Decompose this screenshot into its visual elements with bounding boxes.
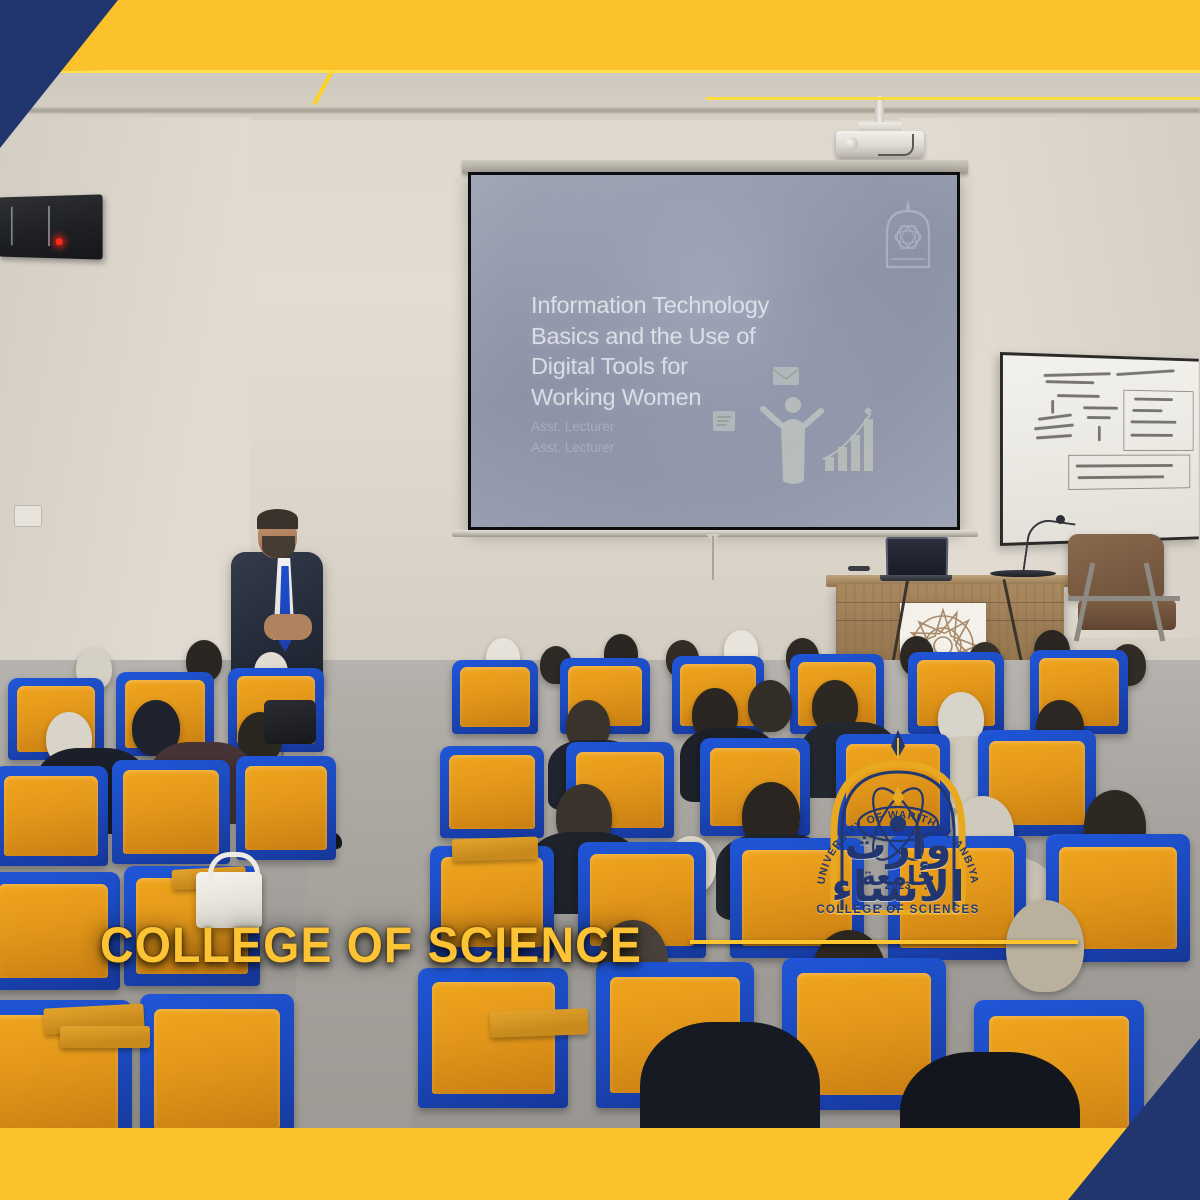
seat-tablet-arm [490, 1008, 589, 1037]
audience-head [1006, 900, 1084, 992]
handbag-strap [208, 852, 260, 883]
wall-speaker-icon [0, 194, 103, 259]
auditorium-seat [140, 994, 294, 1144]
page-title: COLLEGE OF SCIENCE [100, 916, 642, 974]
laptop-icon [886, 537, 949, 580]
seat-tablet-arm [60, 1026, 150, 1048]
slide-title-line-2: Basics and the Use of [531, 321, 841, 352]
person-figure-icon [763, 397, 821, 484]
poster-canvas: Information Technology Basics and the Us… [0, 0, 1200, 1200]
slide-artwork [705, 359, 895, 499]
auditorium-seat [452, 660, 538, 734]
microphone-head-icon [1056, 515, 1065, 524]
handbag [264, 700, 316, 744]
projector-arm [878, 134, 914, 156]
presenter-beard [262, 536, 295, 558]
auditorium-seat [112, 760, 230, 864]
desk-remote-icon [848, 566, 870, 571]
speaker-led-indicator [56, 238, 63, 245]
slide-title-line-1: Information Technology [531, 290, 841, 321]
auditorium-seat [440, 746, 544, 838]
lecture-hall-photo: Information Technology Basics and the Us… [0, 0, 1200, 1200]
screen-surface: Information Technology Basics and the Us… [471, 175, 957, 527]
projector-lens-icon [845, 137, 858, 150]
auditorium-seat [0, 766, 108, 866]
bar-chart-icon [823, 407, 873, 471]
auditorium-seat [418, 968, 568, 1108]
emblem-shield-icon [812, 728, 984, 934]
presenter-hands [264, 614, 312, 640]
whiteboard [1000, 352, 1199, 546]
top-yellow-band [0, 0, 1200, 72]
seat-tablet-arm [452, 837, 539, 862]
caption-underline-rule [690, 940, 1078, 944]
wall-outlet-icon [14, 505, 42, 527]
document-icon [713, 411, 735, 431]
slide-watermark-crest-icon [877, 197, 939, 275]
laptop-base [880, 575, 952, 581]
audience-head [748, 680, 792, 732]
screen-pull-cord [712, 536, 714, 580]
bottom-yellow-band [0, 1128, 1200, 1200]
presenter-hair [257, 509, 298, 529]
ceiling-edge [0, 108, 1200, 113]
envelope-icon [773, 367, 799, 385]
auditorium-seat [236, 756, 336, 860]
university-emblem: UNIVERSITY OF WARITH AL-ANBIYA وارث الأن… [812, 728, 984, 934]
top-band-accent-line [0, 70, 1200, 73]
top-right-accent-line [706, 97, 1200, 100]
projection-screen: Information Technology Basics and the Us… [468, 172, 960, 530]
